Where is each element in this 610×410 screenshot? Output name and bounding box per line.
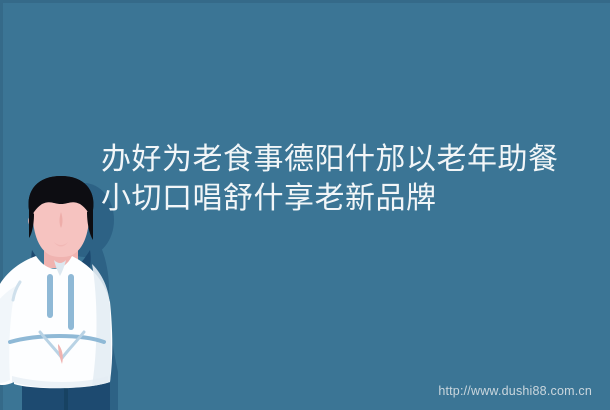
watermark-url: http://www.dushi88.com.cn <box>438 384 592 398</box>
headline-line-2: 小切口唱舒什享老新品牌 <box>101 179 601 218</box>
promo-banner: 办好为老食事德阳什邡以老年助餐 小切口唱舒什享老新品牌 http://www.d… <box>0 0 610 410</box>
headline-line-1: 办好为老食事德阳什邡以老年助餐 <box>101 140 601 179</box>
hoodie <box>0 256 112 388</box>
headline: 办好为老食事德阳什邡以老年助餐 小切口唱舒什享老新品牌 <box>101 140 601 218</box>
